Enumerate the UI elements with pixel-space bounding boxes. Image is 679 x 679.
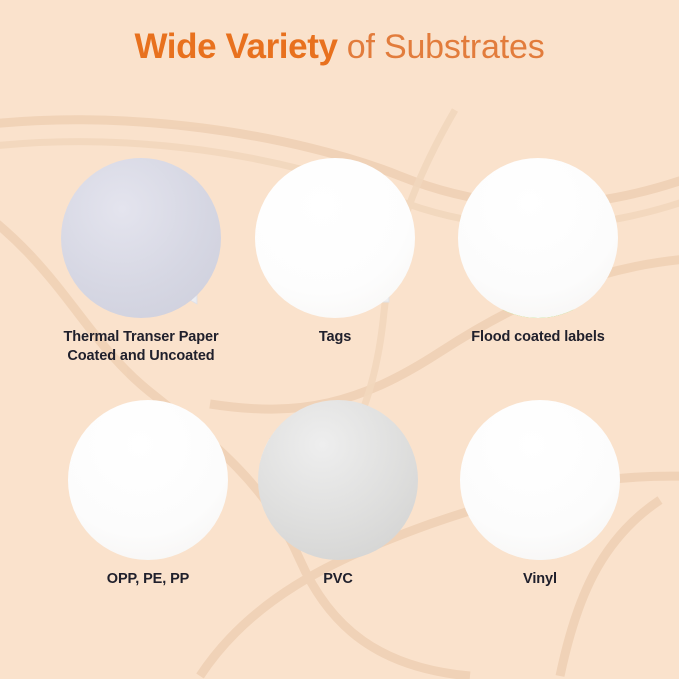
disc-background (68, 400, 228, 560)
vinyl-image (460, 400, 620, 560)
infographic-canvas: Wide Variety of Substrates (0, 0, 679, 679)
flood-coated-labels-image (458, 158, 618, 318)
substrate-item-pvc[interactable]: PVC (225, 400, 451, 589)
thermal-transfer-paper-image (61, 158, 221, 318)
substrate-caption: Flood coated labels (425, 328, 651, 347)
substrate-item-flood-coated-labels[interactable]: Flood coated labels (425, 158, 651, 347)
tags-image (255, 158, 415, 318)
substrate-grid: Thermal Transer Paper Coated and Uncoate… (0, 0, 679, 679)
substrate-caption: PVC (225, 570, 451, 589)
substrate-caption: Tags (222, 328, 448, 347)
disc-background (458, 158, 618, 318)
caption-line-1: PVC (323, 571, 353, 587)
disc-background (460, 400, 620, 560)
disc-background (255, 158, 415, 318)
caption-line-1: Flood coated labels (471, 329, 604, 345)
caption-line-1: Thermal Transer Paper (63, 329, 218, 345)
caption-line-2: Coated and Uncoated (28, 347, 254, 366)
substrate-item-thermal-transfer-paper[interactable]: Thermal Transer Paper Coated and Uncoate… (28, 158, 254, 365)
substrate-item-vinyl[interactable]: Vinyl (427, 400, 653, 589)
opp-pe-pp-image (68, 400, 228, 560)
disc-background (258, 400, 418, 560)
substrate-caption: Thermal Transer Paper Coated and Uncoate… (28, 328, 254, 365)
caption-line-1: OPP, PE, PP (107, 571, 189, 587)
disc-background (61, 158, 221, 318)
pvc-image (258, 400, 418, 560)
substrate-item-tags[interactable]: Tags (222, 158, 448, 347)
substrate-caption: Vinyl (427, 570, 653, 589)
caption-line-1: Vinyl (523, 571, 557, 587)
caption-line-1: Tags (319, 329, 351, 345)
